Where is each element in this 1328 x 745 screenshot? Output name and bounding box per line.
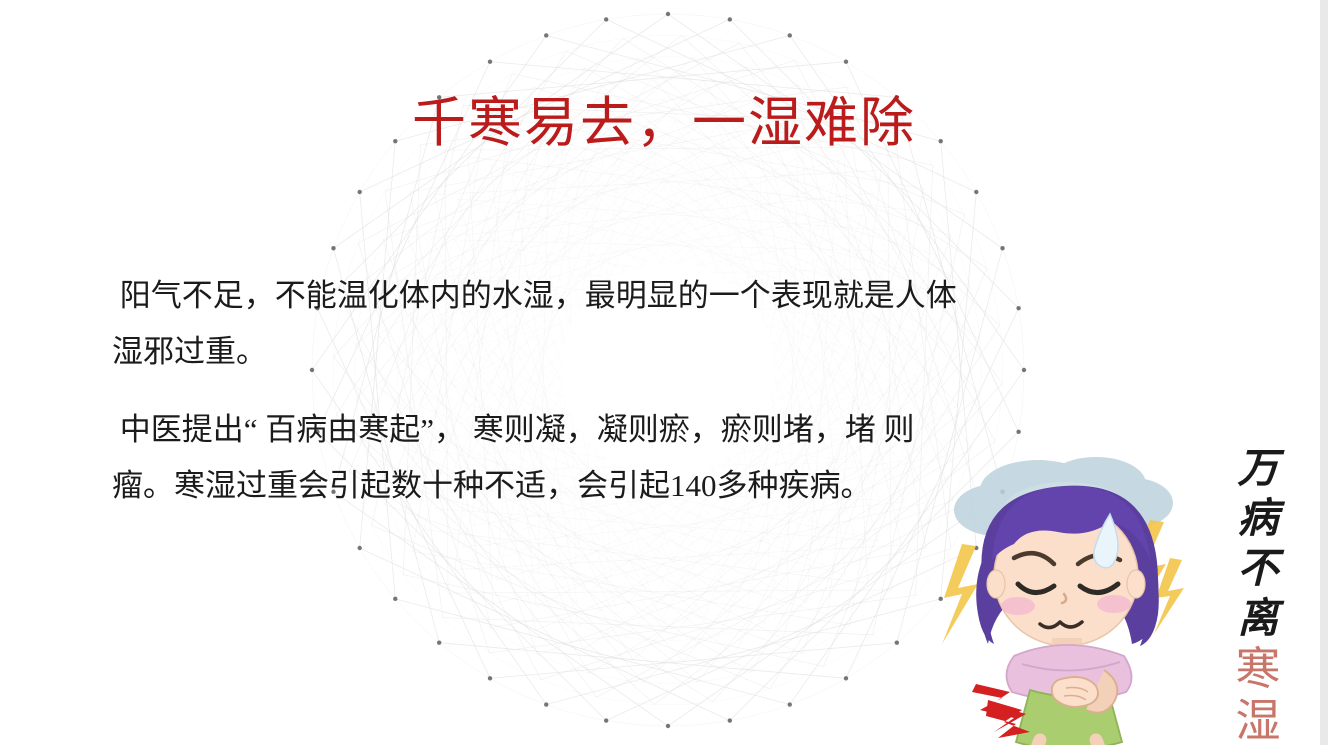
body-text-block: 阳气不足，不能温化体内的水湿，最明显的一个表现就是人体湿邪过重。 中医提出“ 百… bbox=[112, 268, 972, 522]
calligraphy-char-2: 病 bbox=[1238, 493, 1279, 543]
calligraphy-char-5: 寒 bbox=[1235, 643, 1280, 695]
ear-left bbox=[987, 570, 1005, 598]
blush-left bbox=[1001, 597, 1035, 615]
page-title: 千寒易去，一湿难除 bbox=[0, 92, 1328, 154]
calligraphy-char-4: 离 bbox=[1238, 593, 1279, 643]
hand-on-stomach bbox=[1052, 677, 1098, 707]
paragraph-2: 中医提出“ 百病由寒起”， 寒则凝，凝则瘀，瘀则堵，堵 则瘤。寒湿过重会引起数十… bbox=[112, 402, 972, 514]
calligraphy-char-6: 湿 bbox=[1235, 695, 1280, 745]
ear-right bbox=[1127, 570, 1145, 598]
calligraphy-char-1: 万 bbox=[1238, 443, 1279, 493]
calligraphy-panel: 万 病 不 离 寒 湿 bbox=[1196, 443, 1320, 745]
paragraph-1: 阳气不足，不能温化体内的水湿，最明显的一个表现就是人体湿邪过重。 bbox=[112, 268, 972, 380]
leg-left bbox=[1037, 740, 1044, 745]
right-edge-strip bbox=[1320, 0, 1328, 745]
leg-right bbox=[1094, 740, 1100, 745]
slide-canvas: 千寒易去，一湿难除 阳气不足，不能温化体内的水湿，最明显的一个表现就是人体湿邪过… bbox=[0, 0, 1328, 745]
calligraphy-char-3: 不 bbox=[1238, 543, 1279, 593]
blush-right bbox=[1097, 595, 1131, 613]
sick-girl-cartoon-illustration bbox=[918, 448, 1218, 745]
